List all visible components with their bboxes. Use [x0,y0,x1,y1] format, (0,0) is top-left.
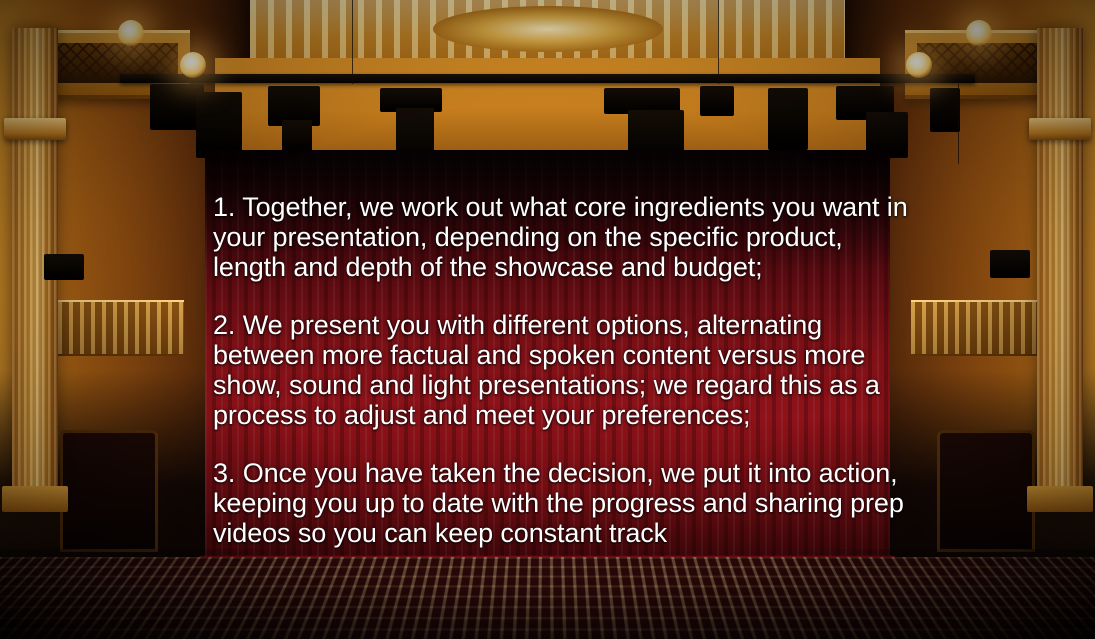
slide-text-block: 1. Together, we work out what core ingre… [213,192,910,548]
slide-paragraph-1: 1. Together, we work out what core ingre… [213,192,910,282]
presentation-slide: 1. Together, we work out what core ingre… [0,0,1095,639]
slide-paragraph-3: 3. Once you have taken the decision, we … [213,458,910,548]
slide-paragraph-2: 2. We present you with different options… [213,310,910,430]
